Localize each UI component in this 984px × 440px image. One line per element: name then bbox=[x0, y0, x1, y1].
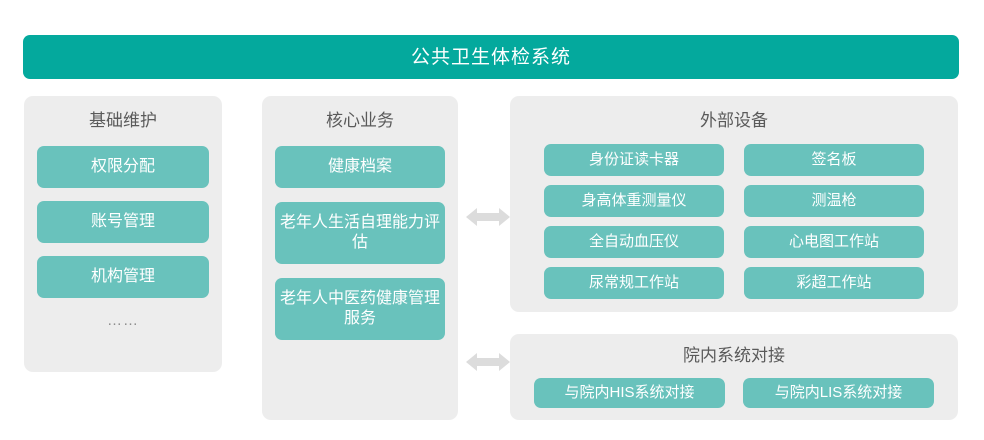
device-item-id-card-reader[interactable]: 身份证读卡器 bbox=[544, 144, 724, 176]
device-item-signature-pad[interactable]: 签名板 bbox=[744, 144, 924, 176]
panel-core-business: 核心业务 健康档案 老年人生活自理能力评估 老年人中医药健康管理服务 bbox=[262, 96, 458, 420]
basic-item-organization[interactable]: 机构管理 bbox=[37, 256, 209, 298]
panel-core-item-list: 健康档案 老年人生活自理能力评估 老年人中医药健康管理服务 bbox=[275, 146, 445, 354]
device-item-urine-workstation[interactable]: 尿常规工作站 bbox=[544, 267, 724, 299]
panel-devices-title: 外部设备 bbox=[510, 112, 958, 129]
core-item-elderly-tcm-health-service[interactable]: 老年人中医药健康管理服务 bbox=[275, 278, 445, 340]
panel-hospital-item-list: 与院内HIS系统对接 与院内LIS系统对接 bbox=[534, 378, 934, 408]
core-item-health-record[interactable]: 健康档案 bbox=[275, 146, 445, 188]
hospital-item-lis-integration[interactable]: 与院内LIS系统对接 bbox=[743, 378, 934, 408]
device-item-height-weight-meter[interactable]: 身高体重测量仪 bbox=[544, 185, 724, 217]
system-header-bar: 公共卫生体检系统 bbox=[23, 35, 959, 79]
panel-core-title: 核心业务 bbox=[262, 112, 458, 129]
basic-item-account[interactable]: 账号管理 bbox=[37, 201, 209, 243]
panel-devices-item-grid: 身份证读卡器 签名板 身高体重测量仪 测温枪 全自动血压仪 心电图工作站 尿常规… bbox=[544, 144, 924, 299]
panel-hospital-system-integration: 院内系统对接 与院内HIS系统对接 与院内LIS系统对接 bbox=[510, 334, 958, 420]
page-title: 公共卫生体检系统 bbox=[411, 48, 571, 67]
device-item-auto-blood-pressure[interactable]: 全自动血压仪 bbox=[544, 226, 724, 258]
core-item-elderly-self-care-assessment[interactable]: 老年人生活自理能力评估 bbox=[275, 202, 445, 264]
device-item-thermometer-gun[interactable]: 测温枪 bbox=[744, 185, 924, 217]
basic-more-ellipsis: …… bbox=[24, 312, 222, 329]
panel-hospital-title: 院内系统对接 bbox=[510, 347, 958, 364]
hospital-item-his-integration[interactable]: 与院内HIS系统对接 bbox=[534, 378, 725, 408]
basic-item-permission[interactable]: 权限分配 bbox=[37, 146, 209, 188]
panel-external-devices: 外部设备 身份证读卡器 签名板 身高体重测量仪 测温枪 全自动血压仪 心电图工作… bbox=[510, 96, 958, 312]
panel-basic-item-list: 权限分配 账号管理 机构管理 bbox=[37, 146, 209, 311]
device-item-ecg-workstation[interactable]: 心电图工作站 bbox=[744, 226, 924, 258]
panel-basic-maintenance: 基础维护 权限分配 账号管理 机构管理 …… bbox=[24, 96, 222, 372]
diagram-canvas: 公共卫生体检系统 基础维护 权限分配 账号管理 机构管理 …… 核心业务 健康档… bbox=[0, 0, 984, 440]
device-item-ultrasound-workstation[interactable]: 彩超工作站 bbox=[744, 267, 924, 299]
connector-core-to-hospital bbox=[466, 351, 510, 373]
panel-basic-title: 基础维护 bbox=[24, 112, 222, 129]
connector-core-to-devices bbox=[466, 206, 510, 228]
